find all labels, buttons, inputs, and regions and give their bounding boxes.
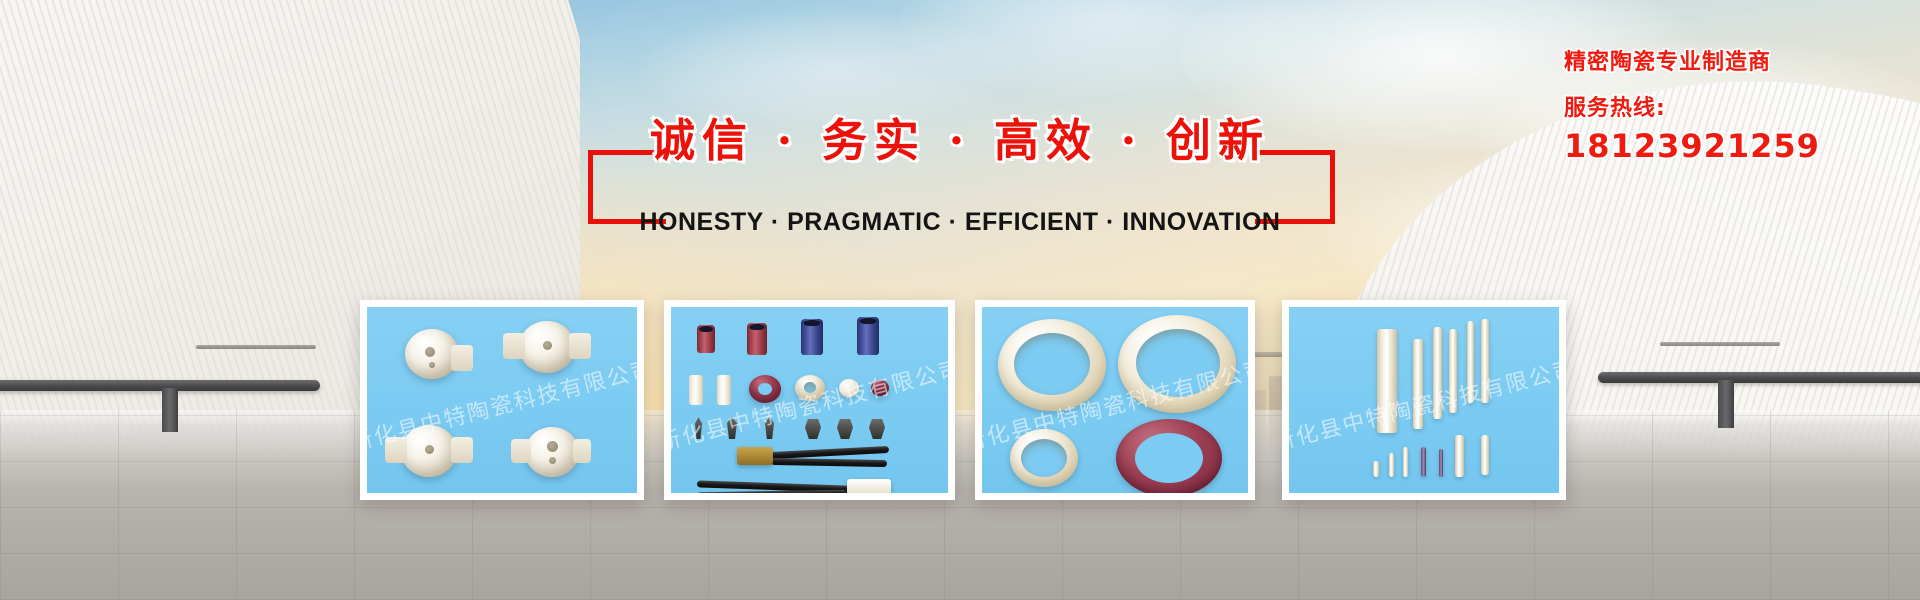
ceramic-rod-short: [1455, 435, 1464, 477]
ceramic-ring-small: [1010, 429, 1078, 487]
ceramic-tube-blue: [857, 317, 879, 355]
metal-clip: [727, 417, 737, 439]
contact-block: 精密陶瓷专业制造商 服务热线: 18123921259: [1564, 50, 1904, 164]
wire-lead: [771, 458, 887, 467]
ceramic-rod: [1467, 321, 1474, 403]
holder-hole: [429, 362, 435, 368]
company-tagline: 精密陶瓷专业制造商: [1564, 50, 1904, 76]
ceramic-plate: [689, 375, 703, 405]
product-panel-ceramic-lamp-holders[interactable]: 新化县中特陶瓷科技有限公司: [360, 300, 644, 500]
holder-tab: [385, 437, 407, 463]
wire-lead: [771, 446, 889, 459]
product-photo: 新化县中特陶瓷科技有限公司: [671, 307, 948, 493]
metal-terminal: [837, 419, 853, 439]
holder-contact: [573, 439, 591, 463]
metal-terminal: [805, 419, 821, 439]
holder-tab: [511, 439, 531, 463]
ceramic-ring-red: [749, 375, 781, 403]
ceramic-rod: [1377, 329, 1397, 433]
slogan-english: HONESTY · PRAGMATIC · EFFICIENT · INNOVA…: [0, 208, 1920, 237]
railing-handrail-left: [196, 345, 316, 349]
ceramic-rod-short: [1373, 461, 1379, 477]
lamp-holder-part: [405, 329, 459, 379]
railing-post-right: [1718, 380, 1734, 428]
ceramic-rod-short: [1481, 435, 1489, 475]
product-photo: 新化县中特陶瓷科技有限公司: [1289, 307, 1559, 493]
holder-hole: [543, 341, 552, 350]
metal-clip: [765, 417, 774, 439]
ceramic-rod: [1433, 327, 1442, 419]
holder-tab: [569, 333, 591, 359]
holder-hole: [425, 445, 434, 454]
ceramic-rod-purple: [1439, 449, 1443, 477]
ceramic-connector-block: [847, 479, 891, 493]
ceramic-ring-red-small: [871, 380, 889, 396]
metal-clip: [695, 417, 702, 439]
terrace-floor: [0, 410, 1920, 600]
ceramic-ring-large: [1118, 315, 1236, 413]
product-panel-ceramic-rods[interactable]: 新化县中特陶瓷科技有限公司: [1282, 300, 1566, 500]
lamp-holder-part: [525, 427, 579, 477]
ceramic-ring-white: [795, 375, 825, 401]
hotline-label: 服务热线:: [1564, 96, 1904, 122]
holder-hole: [549, 457, 556, 464]
hero-banner: 诚信 · 务实 · 高效 · 创新 HONESTY · PRAGMATIC · …: [0, 0, 1920, 600]
metal-terminal: [869, 419, 885, 439]
ceramic-tube-blue: [801, 319, 823, 355]
wire-lead: [697, 490, 847, 493]
lamp-holder-part: [401, 425, 457, 477]
product-photo: 新化县中特陶瓷科技有限公司: [367, 307, 637, 493]
railing-post-left: [162, 388, 178, 432]
metal-terminal-block: [737, 447, 773, 465]
ceramic-tube-red: [697, 325, 715, 353]
holder-hole: [425, 347, 435, 357]
ceramic-rod-short: [1403, 447, 1408, 477]
floor-tile-grid: [0, 410, 1920, 600]
watermark-text: 新化县中特陶瓷科技有限公司: [671, 350, 948, 457]
lamp-holder-part: [519, 321, 575, 373]
ceramic-cap: [839, 379, 859, 397]
product-panel-ceramic-connectors[interactable]: 新化县中特陶瓷科技有限公司: [664, 300, 955, 500]
holder-tab: [451, 437, 473, 463]
ceramic-plate: [717, 375, 731, 405]
holder-tab: [503, 333, 525, 359]
ceramic-ring-red-large: [1116, 419, 1222, 493]
ceramic-rod: [1413, 339, 1423, 429]
ceramic-rod-short: [1389, 453, 1394, 477]
product-photo: 新化县中特陶瓷科技有限公司: [982, 307, 1248, 493]
product-panel-ceramic-rings[interactable]: 新化县中特陶瓷科技有限公司: [975, 300, 1255, 500]
railing-handrail-right: [1660, 342, 1780, 346]
holder-hole: [547, 441, 558, 452]
railing-bar-right: [1598, 372, 1920, 383]
ceramic-rod: [1449, 329, 1457, 413]
ceramic-tube-red: [747, 323, 767, 355]
holder-tab: [451, 345, 473, 371]
ceramic-rod: [1481, 319, 1489, 403]
ceramic-ring-large: [998, 319, 1106, 411]
watermark-text: 新化县中特陶瓷科技有限公司: [1289, 350, 1559, 457]
hotline-number[interactable]: 18123921259: [1564, 128, 1904, 164]
ceramic-rod-purple: [1421, 447, 1426, 477]
railing-bar-left: [0, 380, 320, 391]
